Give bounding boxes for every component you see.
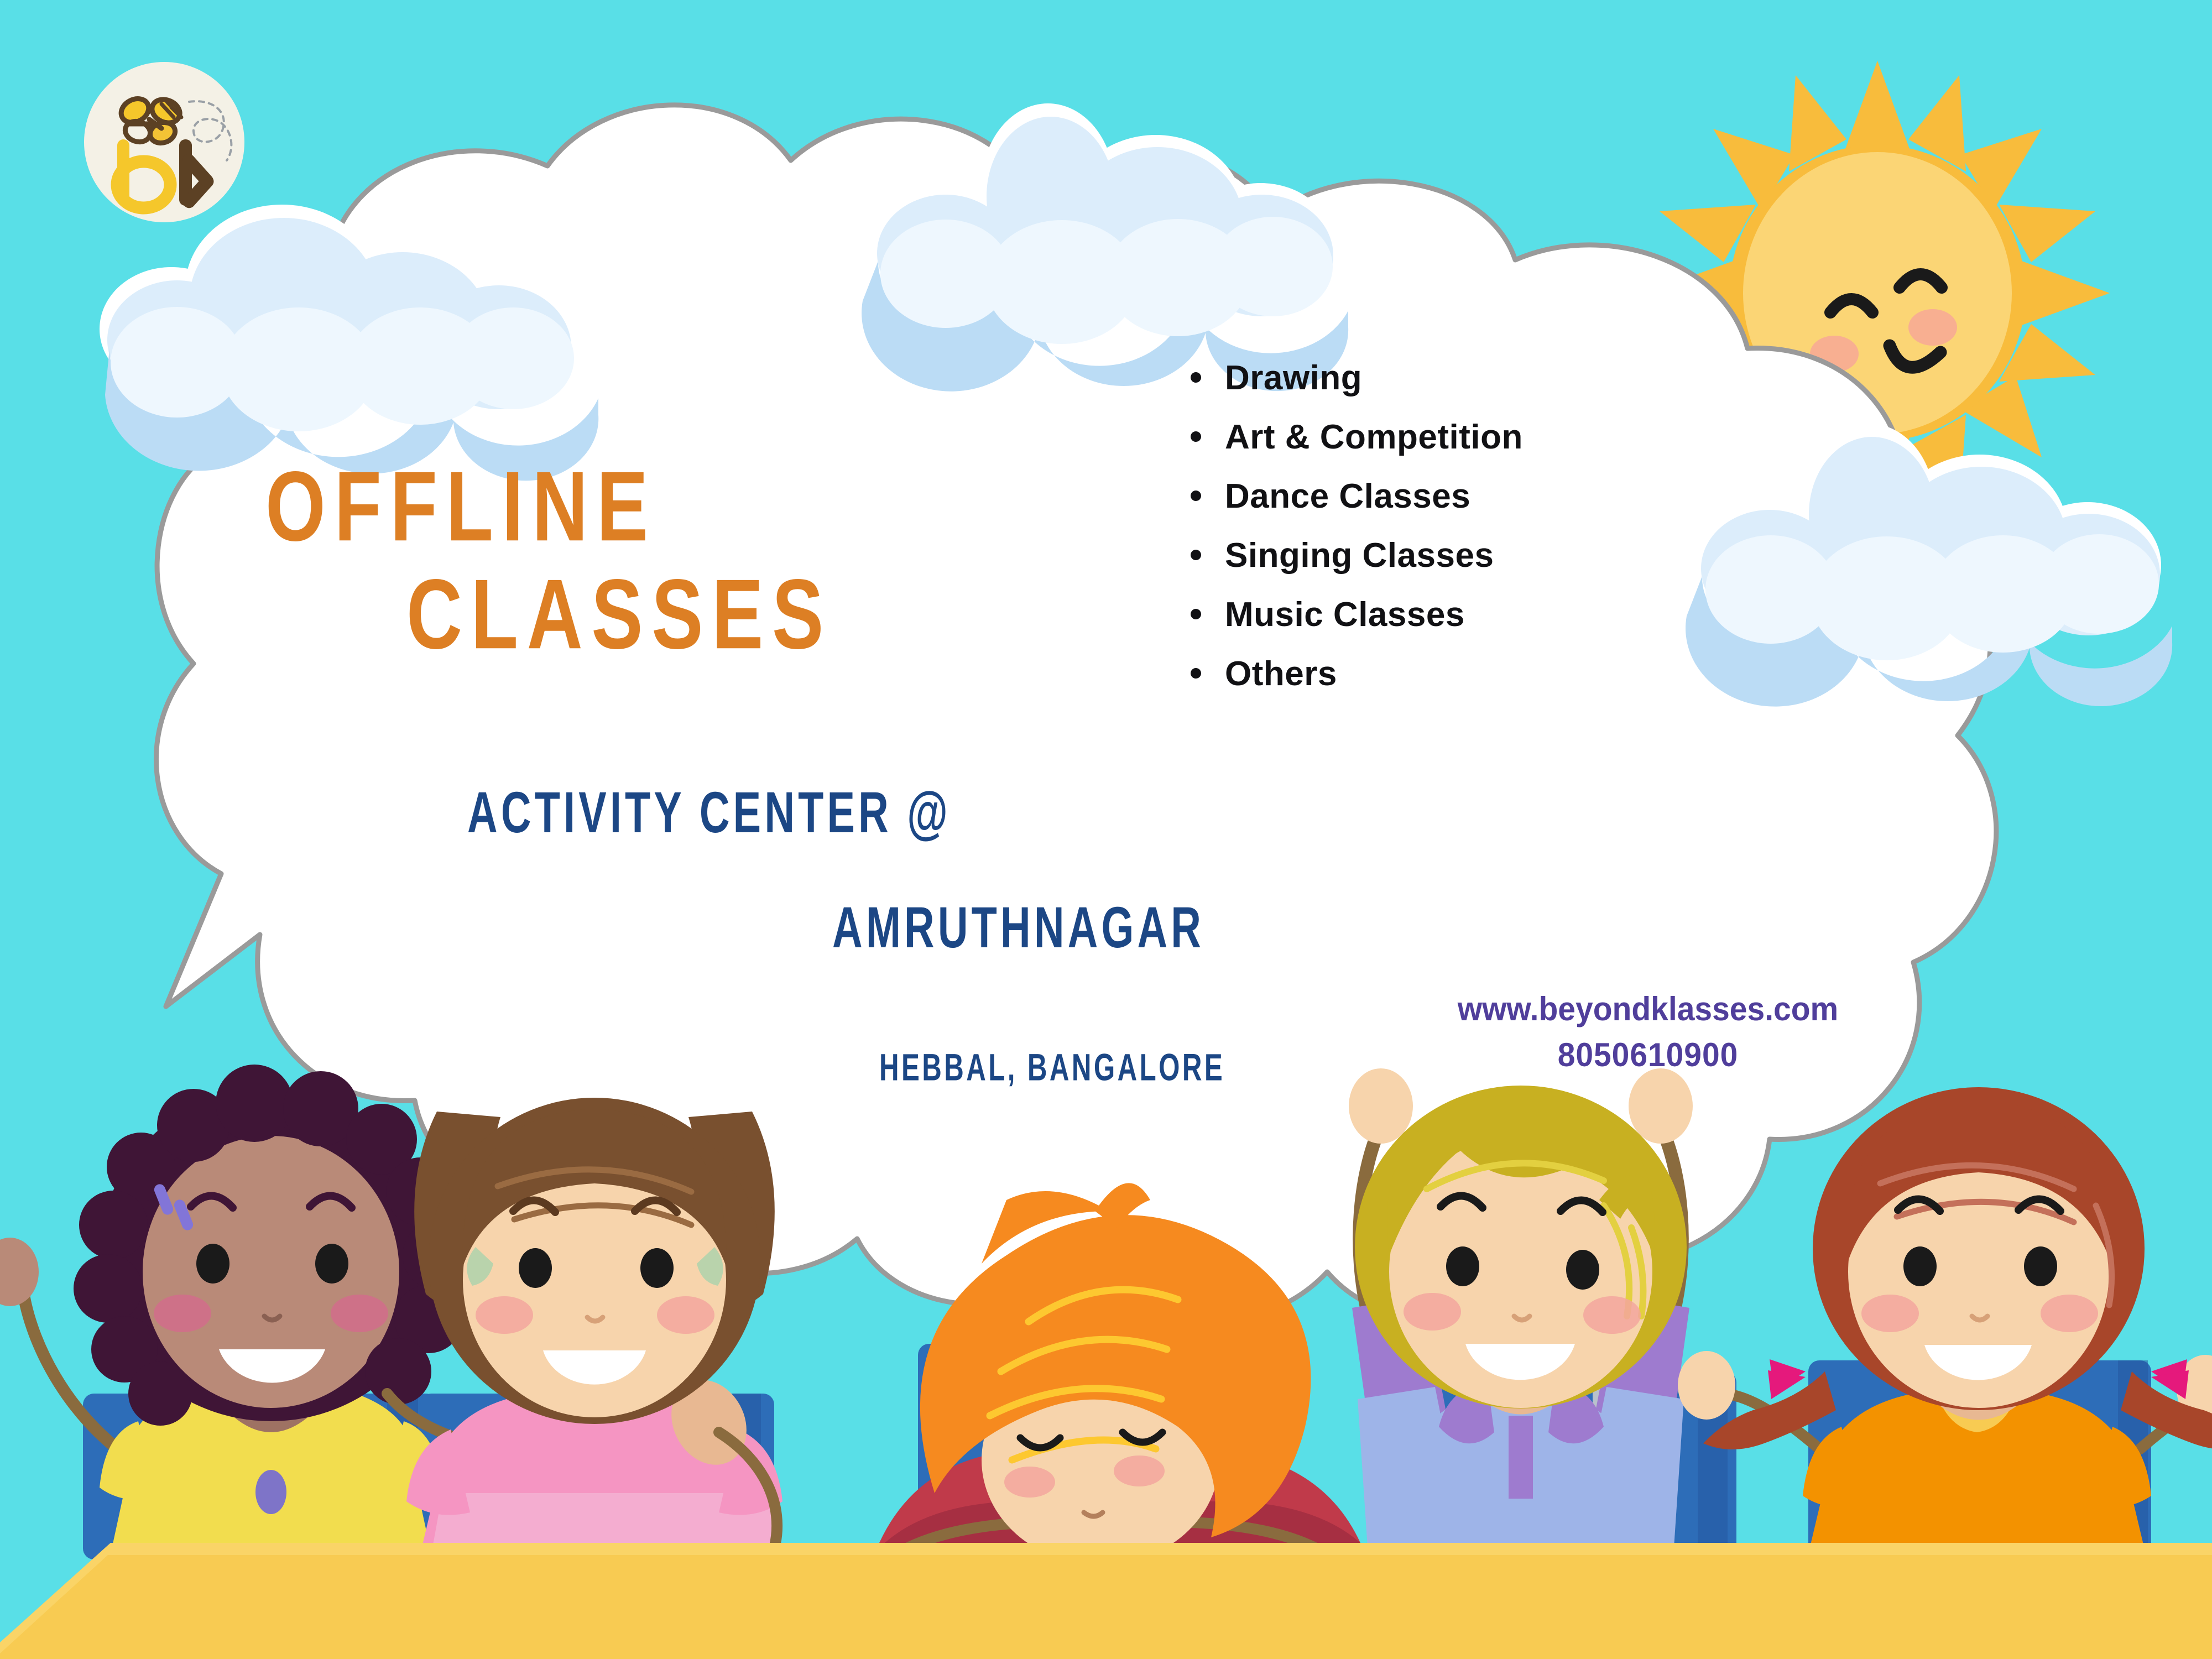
child-sleeping-orange-hair <box>879 1183 1360 1598</box>
child-curly-hair-yellow-dress <box>0 1065 471 1554</box>
children-illustration <box>0 0 2212 1659</box>
child-pigtails-pink-dress <box>387 1098 782 1554</box>
poster-canvas: OFFLINE CLASSES Drawing Art & Competitio… <box>0 0 2212 1659</box>
child-braids-orange-shirt <box>1678 1087 2212 1554</box>
table-surface <box>0 1543 2212 1659</box>
child-blonde-arms-up <box>1349 1068 1693 1564</box>
